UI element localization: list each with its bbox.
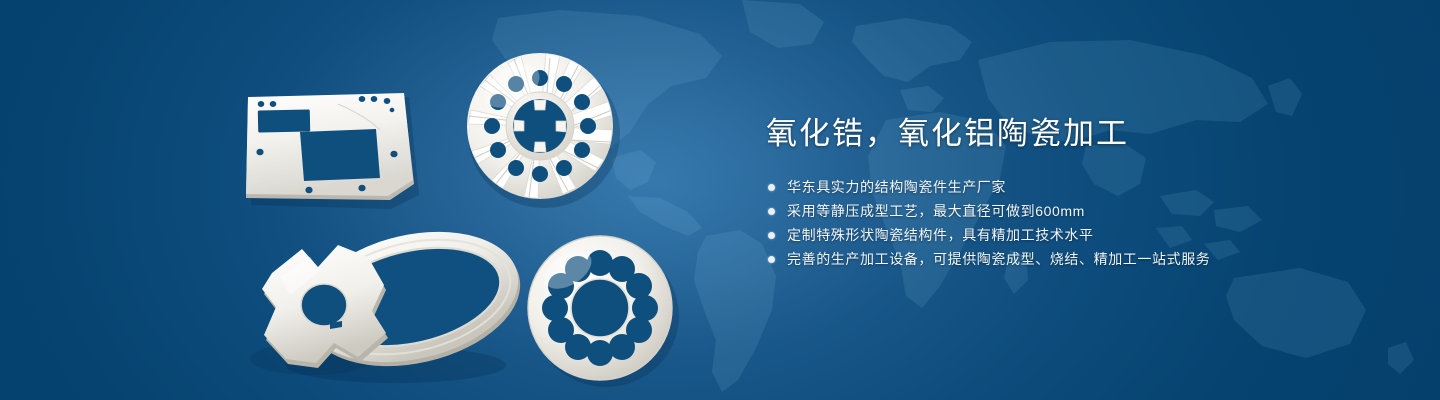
feature-text: 完善的生产加工设备，可提供陶瓷成型、烧结、精加工一站式服务	[787, 247, 1210, 271]
list-item: 定制特殊形状陶瓷结构件，具有精加工技术水平	[766, 223, 1386, 247]
hero-banner: 氧化锆，氧化铝陶瓷加工 华东具实力的结构陶瓷件生产厂家 采用等静压成型工艺，最大…	[0, 0, 1440, 400]
list-item: 华东具实力的结构陶瓷件生产厂家	[766, 175, 1386, 199]
ceramic-perforated-ring-disc	[522, 230, 682, 390]
bullet-dot-icon	[768, 232, 775, 239]
banner-headline: 氧化锆，氧化铝陶瓷加工	[766, 112, 1386, 156]
ceramic-impeller-disc	[450, 38, 630, 218]
bullet-dot-icon	[768, 256, 775, 263]
feature-text: 华东具实力的结构陶瓷件生产厂家	[787, 175, 1006, 199]
banner-copy: 氧化锆，氧化铝陶瓷加工 华东具实力的结构陶瓷件生产厂家 采用等静压成型工艺，最大…	[766, 112, 1386, 271]
list-item: 采用等静压成型工艺，最大直径可做到600mm	[766, 199, 1386, 223]
bullet-dot-icon	[768, 184, 775, 191]
feature-text: 采用等静压成型工艺，最大直径可做到600mm	[787, 199, 1085, 223]
feature-list: 华东具实力的结构陶瓷件生产厂家 采用等静压成型工艺，最大直径可做到600mm 定…	[766, 175, 1386, 271]
product-collage	[238, 38, 728, 383]
list-item: 完善的生产加工设备，可提供陶瓷成型、烧结、精加工一站式服务	[766, 247, 1386, 271]
ceramic-cross-plate-and-ring	[246, 223, 526, 383]
feature-text: 定制特殊形状陶瓷结构件，具有精加工技术水平	[787, 223, 1094, 247]
ceramic-plate-with-cutouts	[238, 80, 423, 205]
bullet-dot-icon	[768, 208, 775, 215]
